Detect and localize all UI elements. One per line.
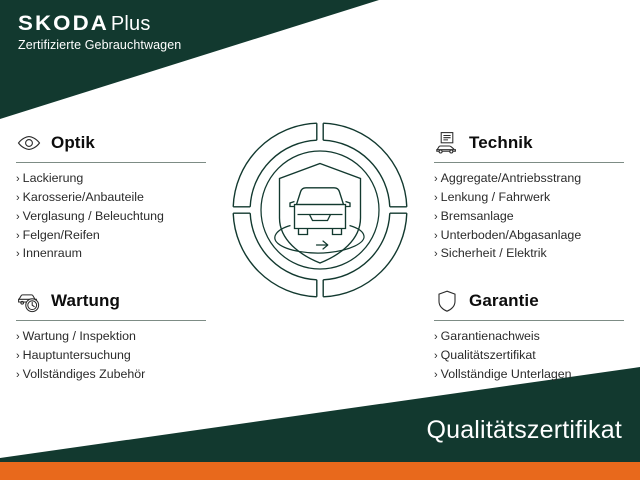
brand-suffix: Plus bbox=[111, 14, 151, 34]
list-item-label: Bremsanlage bbox=[441, 207, 514, 226]
chevron-right-icon: › bbox=[16, 351, 20, 362]
section-list: ›Lackierung ›Karosserie/Anbauteile ›Verg… bbox=[16, 169, 214, 263]
certified-car-shield-emblem bbox=[228, 118, 412, 302]
chevron-right-icon: › bbox=[434, 193, 438, 204]
list-item: ›Wartung / Inspektion bbox=[16, 327, 214, 346]
ring-end-caps bbox=[233, 123, 407, 297]
section-header: Garantie bbox=[434, 286, 632, 316]
section-title: Wartung bbox=[51, 291, 120, 311]
section-divider bbox=[16, 320, 206, 321]
list-item: ›Sicherheit / Elektrik bbox=[434, 244, 632, 263]
section-divider bbox=[434, 320, 624, 321]
chevron-right-icon: › bbox=[16, 249, 20, 260]
car-document-icon bbox=[434, 130, 460, 156]
section-title: Garantie bbox=[469, 291, 539, 311]
list-item: ›Garantienachweis bbox=[434, 327, 632, 346]
section-optik: Optik ›Lackierung ›Karosserie/Anbauteile… bbox=[16, 128, 214, 263]
section-list: ›Garantienachweis ›Qualitätszertifikat ›… bbox=[434, 327, 632, 384]
list-item: ›Vollständige Unterlagen bbox=[434, 365, 632, 384]
list-item: ›Innenraum bbox=[16, 244, 214, 263]
chevron-right-icon: › bbox=[434, 370, 438, 381]
list-item-label: Lenkung / Fahrwerk bbox=[441, 188, 551, 207]
list-item-label: Karosserie/Anbauteile bbox=[23, 188, 144, 207]
list-item-label: Vollständiges Zubehör bbox=[23, 365, 146, 384]
brand-wordmark-row: SKODA Plus bbox=[18, 13, 181, 34]
left-column: Optik ›Lackierung ›Karosserie/Anbauteile… bbox=[16, 128, 214, 384]
eye-icon bbox=[16, 130, 42, 156]
list-item-label: Verglasung / Beleuchtung bbox=[23, 207, 164, 226]
chevron-right-icon: › bbox=[16, 174, 20, 185]
list-item-label: Unterboden/Abgasanlage bbox=[441, 226, 582, 245]
list-item: ›Verglasung / Beleuchtung bbox=[16, 207, 214, 226]
footer-title: Qualitätszertifikat bbox=[426, 416, 622, 445]
section-header: Wartung bbox=[16, 286, 214, 316]
list-item-label: Sicherheit / Elektrik bbox=[441, 244, 547, 263]
chevron-right-icon: › bbox=[434, 231, 438, 242]
outer-ring bbox=[233, 123, 407, 297]
chevron-right-icon: › bbox=[16, 370, 20, 381]
section-divider bbox=[16, 162, 206, 163]
list-item-label: Innenraum bbox=[23, 244, 82, 263]
brand-name: SKODA bbox=[18, 13, 109, 34]
list-item-label: Aggregate/Antriebsstrang bbox=[441, 169, 582, 188]
section-wartung: Wartung ›Wartung / Inspektion ›Hauptunte… bbox=[16, 286, 214, 384]
list-item-label: Garantienachweis bbox=[441, 327, 540, 346]
brand-tagline: Zertifizierte Gebrauchtwagen bbox=[18, 39, 181, 53]
list-item-label: Qualitätszertifikat bbox=[441, 346, 536, 365]
orange-accent-bar bbox=[0, 462, 640, 480]
shield-icon bbox=[434, 288, 460, 314]
chevron-right-icon: › bbox=[434, 249, 438, 260]
section-title: Optik bbox=[51, 133, 95, 153]
list-item: ›Bremsanlage bbox=[434, 207, 632, 226]
brand-lockup: SKODA Plus Zertifizierte Gebrauchtwagen bbox=[18, 13, 181, 53]
list-item-label: Hauptuntersuchung bbox=[23, 346, 131, 365]
list-item: ›Hauptuntersuchung bbox=[16, 346, 214, 365]
list-item: ›Lenkung / Fahrwerk bbox=[434, 188, 632, 207]
list-item-label: Vollständige Unterlagen bbox=[441, 365, 572, 384]
section-list: ›Aggregate/Antriebsstrang ›Lenkung / Fah… bbox=[434, 169, 632, 263]
list-item: ›Vollständiges Zubehör bbox=[16, 365, 214, 384]
section-technik: Technik ›Aggregate/Antriebsstrang ›Lenku… bbox=[434, 128, 632, 263]
chevron-right-icon: › bbox=[434, 332, 438, 343]
inner-circle bbox=[261, 151, 379, 269]
list-item: ›Aggregate/Antriebsstrang bbox=[434, 169, 632, 188]
chevron-right-icon: › bbox=[434, 212, 438, 223]
list-item: ›Felgen/Reifen bbox=[16, 226, 214, 245]
chevron-right-icon: › bbox=[434, 351, 438, 362]
chevron-right-icon: › bbox=[16, 193, 20, 204]
section-divider bbox=[434, 162, 624, 163]
list-item-label: Felgen/Reifen bbox=[23, 226, 100, 245]
section-header: Technik bbox=[434, 128, 632, 158]
chevron-right-icon: › bbox=[16, 332, 20, 343]
outer-ring-inner-edge bbox=[250, 140, 390, 280]
section-garantie: Garantie ›Garantienachweis ›Qualitätszer… bbox=[434, 286, 632, 384]
section-header: Optik bbox=[16, 128, 214, 158]
certificate-page: SKODA Plus Zertifizierte Gebrauchtwagen … bbox=[0, 0, 640, 480]
car-service-clock-icon bbox=[16, 288, 42, 314]
right-column: Technik ›Aggregate/Antriebsstrang ›Lenku… bbox=[434, 128, 632, 384]
chevron-right-icon: › bbox=[434, 174, 438, 185]
orbit-arrow bbox=[275, 226, 364, 254]
list-item: ›Unterboden/Abgasanlage bbox=[434, 226, 632, 245]
list-item: ›Lackierung bbox=[16, 169, 214, 188]
section-list: ›Wartung / Inspektion ›Hauptuntersuchung… bbox=[16, 327, 214, 384]
list-item: ›Qualitätszertifikat bbox=[434, 346, 632, 365]
list-item: ›Karosserie/Anbauteile bbox=[16, 188, 214, 207]
list-item-label: Lackierung bbox=[23, 169, 84, 188]
chevron-right-icon: › bbox=[16, 231, 20, 242]
chevron-right-icon: › bbox=[16, 212, 20, 223]
car-front-icon bbox=[290, 188, 350, 235]
section-title: Technik bbox=[469, 133, 533, 153]
list-item-label: Wartung / Inspektion bbox=[23, 327, 136, 346]
